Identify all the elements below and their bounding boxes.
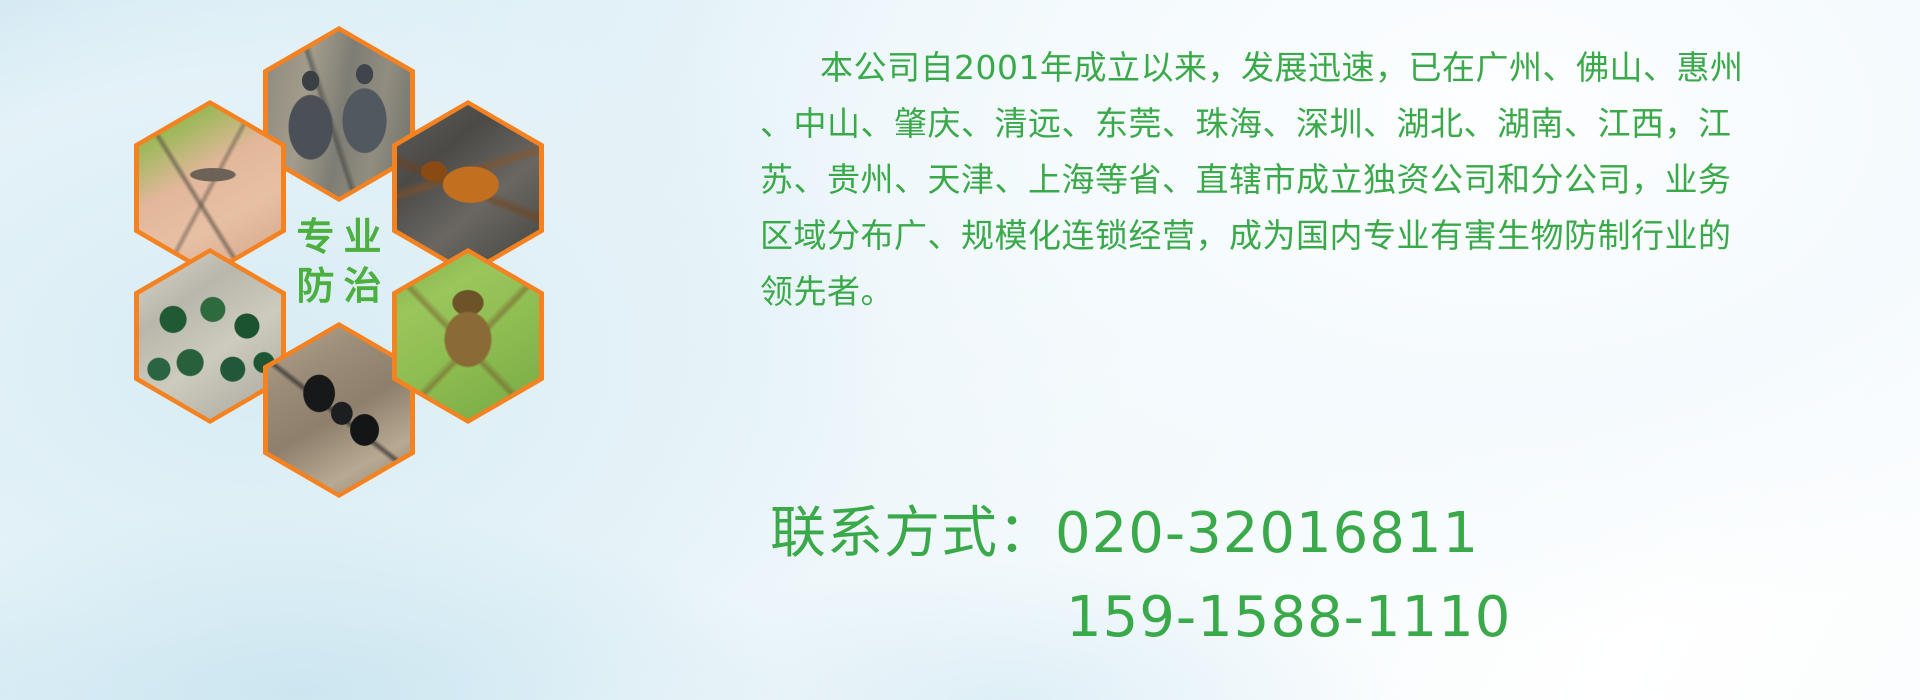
phone-secondary[interactable]: 159-1588-1110 [1066,585,1511,650]
contact-label: 联系方式： [770,501,1055,566]
description-line: 本公司自2001年成立以来，发展迅速，已在广州、佛山、惠州 [760,40,1860,96]
contact-primary-line: 联系方式：020-32016811 [770,492,1870,576]
description-line: 领先者。 [760,264,1860,320]
stinkbug-photo-icon [397,253,539,419]
slogan-line-2: 防治 [287,266,390,307]
ant-photo-icon [268,327,410,493]
fly-photo-icon [139,253,281,419]
company-description: 本公司自2001年成立以来，发展迅速，已在广州、佛山、惠州 、中山、肇庆、清远、… [760,40,1860,320]
promo-banner: 专业 防治 本公司自2001年成立以来，发展迅速，已在广州、佛山、惠州 、中山、… [0,0,1920,700]
phone-primary[interactable]: 020-32016811 [1055,501,1479,566]
description-line: 苏、贵州、天津、上海等省、直辖市成立独资公司和分公司，业务 [760,152,1860,208]
contact-secondary-line: 159-1588-1110 [770,576,1870,660]
description-line: 、中山、肇庆、清远、东莞、珠海、深圳、湖北、湖南、江西，江 [760,96,1860,152]
description-line: 区域分布广、规模化连锁经营，成为国内专业有害生物防制行业的 [760,208,1860,264]
contact-block: 联系方式：020-32016811 159-1588-1110 [770,492,1870,660]
cockroach-photo-icon [397,105,539,271]
hexagon-collage: 专业 防治 [88,4,588,564]
mosquito-photo-icon [139,105,281,271]
rat-photo-icon [268,31,410,197]
slogan-line-1: 专业 [287,217,390,258]
